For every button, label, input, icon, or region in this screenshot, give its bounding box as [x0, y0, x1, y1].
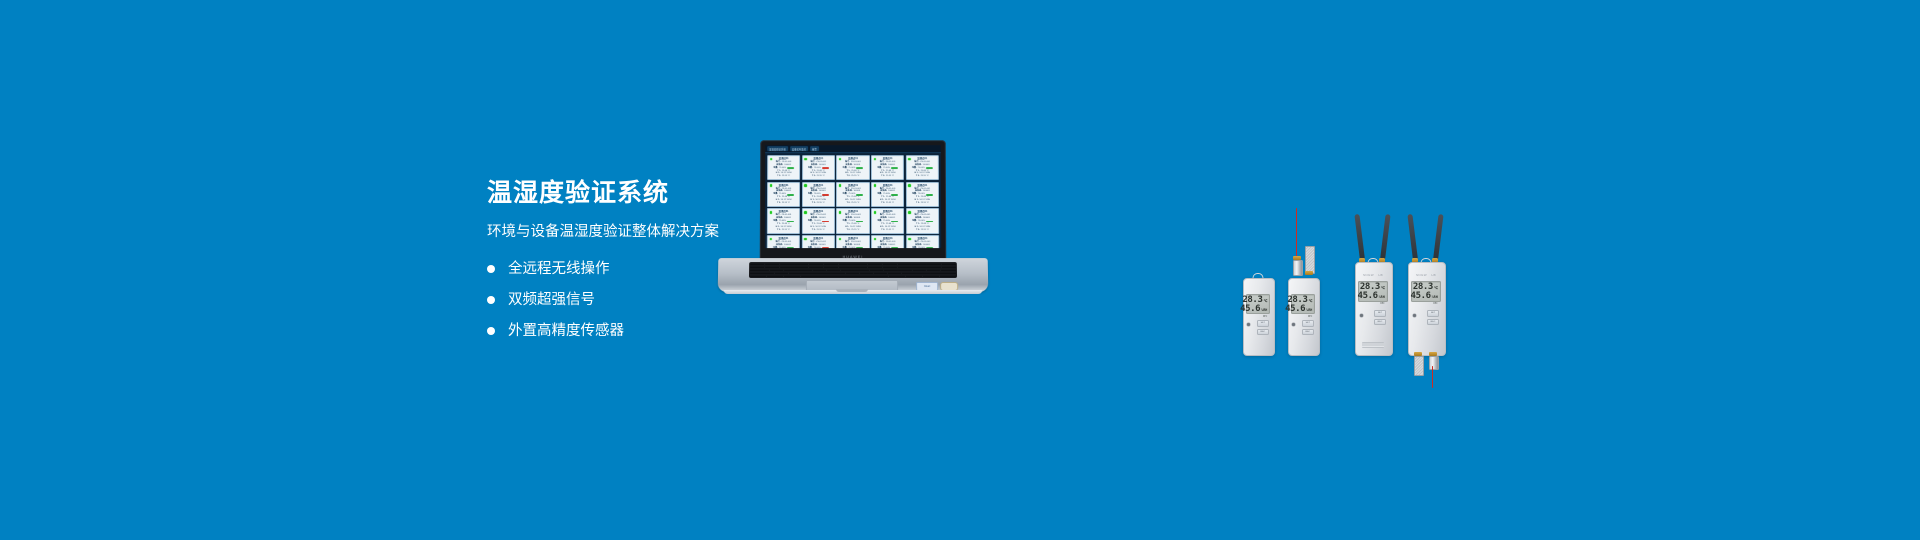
row-value: 25.55 ℃: [886, 229, 894, 232]
sensor-card-title: 监测点01: [908, 237, 936, 240]
rec-button[interactable]: REC: [1257, 329, 1269, 336]
keyboard-key[interactable]: [941, 269, 956, 271]
humidity-reading: 45.6 %RH: [1414, 292, 1438, 301]
laptop-open-notch: [836, 289, 868, 292]
row-label: T 2:: [847, 229, 851, 232]
sensor-card-row: T 2:25.55 ℃: [769, 202, 797, 205]
sensor-card-title: 监测点01: [769, 210, 797, 213]
row-value: 25.55 ℃: [817, 229, 825, 232]
keyboard-key[interactable]: [942, 263, 956, 265]
sensor-card-row: T 2:25.55 ℃: [804, 175, 832, 178]
status-led-icon: [908, 158, 911, 161]
sensor-card-title: 监测点01: [804, 210, 832, 213]
laptop-product-image: 温湿度验证系统 设备实时监控 报警 监测点01编号:ZS-01-001采集器:1…: [718, 140, 988, 300]
keyboard-key[interactable]: [898, 266, 912, 268]
row-label: T 2:: [916, 229, 920, 232]
keyboard-key[interactable]: [809, 266, 823, 268]
row-label: T 2:: [812, 175, 816, 178]
antenna-right: [1380, 214, 1390, 260]
keyboard-key[interactable]: [860, 272, 873, 274]
monitoring-app: 温湿度验证系统 设备实时监控 报警 监测点01编号:ZS-01-001采集器:1…: [765, 145, 941, 248]
keyboard-key[interactable]: [902, 272, 915, 274]
sensor-card-title: 监测点01: [874, 184, 902, 187]
set-button[interactable]: SET: [1427, 310, 1439, 317]
temperature-probe: [1293, 260, 1303, 276]
keyboard-key[interactable]: [750, 275, 766, 277]
sensor-card-title: 监测点01: [874, 210, 902, 213]
record-indicator: REC: [1294, 315, 1313, 318]
row-value: 25.55 ℃: [782, 202, 790, 205]
laptop-lid: 温湿度验证系统 设备实时监控 报警 监测点01编号:ZS-01-001采集器:1…: [760, 140, 947, 260]
keyboard-key[interactable]: [889, 275, 905, 277]
sensor-card[interactable]: 监测点01编号:ZS-01-001采集器:100001电量:75.00%T 1:…: [906, 155, 939, 180]
tab-monitor[interactable]: 设备实时监控: [790, 146, 808, 151]
keyboard-key[interactable]: [853, 263, 867, 265]
bullet-dot-icon: [487, 296, 495, 304]
humidity-value: 45.6: [1285, 305, 1305, 314]
humidity-reading: 45.6 %RH: [1249, 305, 1268, 314]
sensor-card-title: 监测点01: [804, 157, 832, 160]
rec-button[interactable]: REC: [1302, 329, 1314, 336]
keyboard-row: [750, 272, 956, 274]
sensor-card[interactable]: 监测点01编号:ZS-01-001采集器:100001电量:75.00%T 1:…: [802, 155, 835, 180]
row-label: T 2:: [777, 202, 781, 205]
keyboard-key[interactable]: [750, 272, 774, 274]
keyboard-key[interactable]: [906, 275, 922, 277]
battery-level-bar: [891, 247, 898, 248]
keyboard-key[interactable]: [868, 263, 882, 265]
device-lcd-display: 28.3 ℃ 45.6 %RH REC: [1291, 294, 1316, 314]
sensor-card-row: 电量:75.00%: [908, 247, 936, 248]
keyboard-key[interactable]: [794, 263, 808, 265]
keyboard-key[interactable]: [784, 269, 798, 271]
keyboard-key[interactable]: [765, 263, 779, 265]
temperature-unit: ℃: [1381, 287, 1385, 290]
keyboard-row: [750, 263, 956, 265]
sensor-card[interactable]: 监测点01编号:ZS-01-001采集器:100001电量:75.00%T 1:…: [836, 235, 869, 248]
sensor-card-title: 监测点01: [839, 237, 867, 240]
sensor-card[interactable]: 监测点01编号:ZS-01-001采集器:100001电量:75.00%T 1:…: [906, 208, 939, 233]
row-label: T 2:: [777, 175, 781, 178]
record-indicator: REC: [1361, 302, 1385, 305]
sensor-card-row: T 2:25.55 ℃: [769, 229, 797, 232]
keyboard-key[interactable]: [853, 266, 867, 268]
temperature-unit: ℃: [1308, 300, 1312, 303]
row-label: T 2:: [812, 229, 816, 232]
row-label: T 2:: [847, 175, 851, 178]
status-led-icon: [769, 211, 772, 214]
antenna-right: [1433, 214, 1443, 260]
row-value: 75.00%: [848, 247, 855, 248]
humidity-reading: 45.6 %RH: [1294, 305, 1313, 314]
row-label: T 2:: [881, 202, 885, 205]
sensor-card[interactable]: 监测点01编号:ZS-01-001采集器:100001电量:75.00%T 1:…: [836, 155, 869, 180]
keyboard-key[interactable]: [927, 269, 941, 271]
keyboard-key[interactable]: [803, 272, 816, 274]
probe-wire-red: [1296, 208, 1297, 260]
sensor-card-row: T 2:25.55 ℃: [908, 202, 936, 205]
device-brand-left: SNGW: [1363, 273, 1374, 277]
temperature-unit: ℃: [1434, 287, 1438, 290]
keyboard-key[interactable]: [942, 266, 956, 268]
laptop-base: Intel: [718, 258, 989, 292]
tab-system[interactable]: 温湿度验证系统: [767, 146, 788, 151]
humidity-reading: 45.6 %RH: [1361, 292, 1385, 301]
status-led-icon: [874, 211, 877, 214]
sensor-card[interactable]: 监测点01编号:ZS-01-001采集器:100001电量:75.00%T 1:…: [871, 182, 904, 207]
keyboard-key[interactable]: [923, 275, 939, 277]
status-led-icon: [874, 184, 877, 187]
sensor-card-title: 监测点01: [839, 157, 867, 160]
sensor-card-title: 监测点01: [874, 237, 902, 240]
row-label: 电量:: [843, 247, 848, 248]
antenna-left: [1407, 214, 1417, 260]
keyboard-key[interactable]: [912, 269, 926, 271]
sensor-card-row: T 2:25.55 ℃: [908, 175, 936, 178]
device-wireless-dual-band-probe: SNGW H8 28.3 ℃ 45.6 %RH REC SET REC: [1408, 262, 1444, 354]
keyboard-key[interactable]: [765, 266, 779, 268]
tab-label: 报警: [812, 147, 817, 151]
keyboard-key[interactable]: [883, 263, 897, 265]
keyboard-row: [750, 266, 956, 268]
row-label: T 2:: [881, 175, 885, 178]
row-label: T 2:: [847, 202, 851, 205]
set-button[interactable]: SET: [1302, 320, 1314, 327]
battery-level-bar: [787, 247, 794, 248]
row-value: 25.55 ℃: [886, 175, 894, 178]
sensor-card-row: T 2:25.55 ℃: [770, 175, 798, 178]
row-label: 电量:: [808, 247, 813, 248]
row-label: 电量:: [877, 247, 882, 248]
keyboard-key[interactable]: [839, 266, 853, 268]
device-wireless-dual-band: SNGW H8 28.3 ℃ 45.6 %RH REC SET REC: [1355, 262, 1391, 354]
row-label: T 2:: [812, 202, 816, 205]
sensor-card-row: 电量:75.00%: [839, 247, 867, 248]
row-label: T 2:: [916, 175, 920, 178]
keyboard-key[interactable]: [927, 263, 941, 265]
row-value: 25.55 ℃: [782, 175, 790, 178]
keyboard-key[interactable]: [898, 263, 912, 265]
set-button[interactable]: SET: [1374, 310, 1386, 317]
humidity-probe-filter: [1305, 246, 1315, 274]
row-value: 25.55 ℃: [817, 202, 825, 205]
feature-label: 全远程无线操作: [508, 260, 610, 278]
temperature-unit: ℃: [1263, 300, 1267, 303]
row-value: 25.55 ℃: [851, 202, 859, 205]
device-model-right: H8: [1378, 273, 1383, 277]
device-brand-label: [1288, 286, 1318, 290]
device-model-right: H8: [1431, 273, 1436, 277]
row-value: 75.00%: [918, 247, 925, 248]
sensor-card[interactable]: 监测点01编号:ZS-01-001采集器:100001电量:75.00%T 1:…: [767, 235, 800, 248]
keyboard-key[interactable]: [789, 272, 802, 274]
keyboard-key[interactable]: [940, 275, 956, 277]
sensor-card-row: T 2:25.55 ℃: [908, 229, 936, 232]
laptop-keyboard[interactable]: [749, 262, 957, 278]
keyboard-key[interactable]: [841, 269, 855, 271]
keyboard-key[interactable]: [801, 275, 888, 277]
keyboard-key[interactable]: [846, 272, 859, 274]
sensor-card-row: T 2:25.55 ℃: [874, 202, 902, 205]
laptop-screen: 温湿度验证系统 设备实时监控 报警 监测点01编号:ZS-01-001采集器:1…: [765, 145, 941, 248]
keyboard-key[interactable]: [798, 269, 812, 271]
battery-level-bar: [856, 247, 863, 248]
keyboard-key[interactable]: [898, 269, 912, 271]
device-button-group: SET REC: [1374, 310, 1386, 325]
sensor-card[interactable]: 监测点01编号:ZS-01-001采集器:100001电量:75.00%T 1:…: [767, 155, 800, 180]
sensor-card-grid: 监测点01编号:ZS-01-001采集器:100001电量:75.00%T 1:…: [767, 155, 940, 248]
sensor-card[interactable]: 监测点01编号:ZS-01-001采集器:100001电量:75.00%T 1:…: [767, 208, 800, 233]
device-datalogger-external-probe: 28.3 ℃ 45.6 %RH REC SET REC: [1288, 278, 1318, 354]
temperature-probe: [1429, 356, 1439, 370]
sensor-card[interactable]: 监测点01编号:ZS-01-001采集器:100001电量:75.00%T 1:…: [767, 182, 800, 207]
sensor-card-row: 电量:75.00%: [874, 247, 902, 248]
row-label: T 2:: [916, 202, 920, 205]
feature-label: 外置高精度传感器: [508, 322, 624, 340]
row-value: 25.55 ℃: [817, 175, 825, 178]
row-label: 电量:: [773, 247, 778, 248]
keyboard-key[interactable]: [827, 269, 841, 271]
device-lcd-display: 28.3 ℃ 45.6 %RH REC: [1246, 294, 1271, 314]
app-body: 监测点01编号:ZS-01-001采集器:100001电量:75.00%T 1:…: [765, 153, 941, 248]
keyboard-key[interactable]: [916, 272, 929, 274]
sensor-card-row: 电量:75.00%: [769, 247, 797, 248]
sensor-card-title: 监测点01: [839, 210, 867, 213]
humidity-unit: %RH: [1379, 296, 1385, 299]
keyboard-key[interactable]: [767, 275, 783, 277]
keyboard-key[interactable]: [813, 269, 827, 271]
status-led-icon: [804, 158, 807, 161]
row-value: 75.00%: [883, 247, 890, 248]
row-value: 25.55 ℃: [921, 202, 929, 205]
sensor-card-title: 监测点01: [770, 157, 798, 160]
keyboard-key[interactable]: [824, 266, 838, 268]
app-titlebar: 温湿度验证系统 设备实时监控 报警: [765, 145, 941, 153]
sensor-card-row: T 2:25.55 ℃: [804, 229, 832, 232]
humidity-value: 45.6: [1411, 292, 1431, 301]
row-value: 75.00%: [779, 247, 786, 248]
keyboard-key[interactable]: [930, 272, 956, 274]
sensor-card[interactable]: 监测点01编号:ZS-01-001采集器:100001电量:75.00%T 1:…: [871, 235, 904, 248]
device-brand-row: SNGW H8: [1355, 273, 1391, 277]
antenna-left: [1354, 214, 1364, 260]
keyboard-key[interactable]: [750, 263, 764, 265]
humidity-value: 45.6: [1358, 292, 1378, 301]
keyboard-key[interactable]: [855, 269, 869, 271]
sensor-card[interactable]: 监测点01编号:ZS-01-001采集器:100001电量:75.00%T 1:…: [836, 182, 869, 207]
sensor-card-row: T 2:25.55 ℃: [874, 229, 902, 232]
battery-level-bar: [822, 247, 829, 248]
row-value: 25.55 ℃: [782, 229, 790, 232]
status-led-icon: [908, 184, 911, 187]
row-value: 75.00%: [814, 247, 821, 248]
row-value: 25.55 ℃: [886, 202, 894, 205]
sensor-card-title: 监测点01: [908, 210, 936, 213]
keyboard-key[interactable]: [912, 266, 926, 268]
probe-connector-cap: [1305, 271, 1313, 275]
keyboard-key[interactable]: [874, 272, 887, 274]
device-brand-label: [1243, 286, 1273, 290]
sensor-card[interactable]: 监测点01编号:ZS-01-001采集器:100001电量:75.00%T 1:…: [802, 235, 835, 248]
sensor-card-title: 监测点01: [839, 184, 867, 187]
humidity-unit: %RH: [1261, 309, 1267, 312]
keyboard-row: [750, 275, 956, 277]
keyboard-key[interactable]: [780, 266, 794, 268]
humidity-probe-filter: [1414, 356, 1424, 376]
bullet-dot-icon: [487, 265, 495, 273]
tab-alarm[interactable]: 报警: [810, 146, 819, 151]
humidity-unit: %RH: [1432, 296, 1438, 299]
sensor-card-row: T 2:25.55 ℃: [839, 229, 867, 232]
sensor-card[interactable]: 监测点01编号:ZS-01-001采集器:100001电量:75.00%T 1:…: [906, 235, 939, 248]
status-led-icon: [770, 184, 773, 187]
keyboard-key[interactable]: [839, 263, 853, 265]
keyboard-key[interactable]: [775, 272, 788, 274]
sensor-card-row: T 2:25.55 ℃: [839, 175, 867, 178]
sensor-card-row: T 2:25.55 ℃: [874, 175, 902, 178]
device-datalogger-basic: 28.3 ℃ 45.6 %RH REC SET REC: [1243, 278, 1273, 354]
keyboard-key[interactable]: [770, 269, 784, 271]
sensor-card-title: 监测点01: [908, 157, 936, 160]
keyboard-key[interactable]: [750, 266, 764, 268]
feature-label: 双频超强信号: [508, 291, 595, 309]
status-led-icon: [908, 211, 911, 214]
vent-grille: [1362, 342, 1384, 348]
device-lcd-display: 28.3 ℃ 45.6 %RH REC: [1411, 281, 1441, 302]
sensor-card[interactable]: 监测点01编号:ZS-01-001采集器:100001电量:75.00%T 1:…: [871, 155, 904, 180]
device-button-group: SET REC: [1427, 310, 1439, 325]
keyboard-key[interactable]: [817, 272, 830, 274]
keyboard-key[interactable]: [794, 266, 808, 268]
device-brand-row: SNGW H8: [1408, 273, 1444, 277]
keyboard-key[interactable]: [870, 269, 884, 271]
sensor-card-title: 监测点01: [804, 237, 832, 240]
sensor-card-row: T 2:25.55 ℃: [804, 202, 832, 205]
device-button-group: SET REC: [1302, 320, 1314, 335]
keyboard-key[interactable]: [831, 272, 844, 274]
tab-label: 温湿度验证系统: [769, 147, 786, 151]
status-led-icon: [804, 211, 807, 214]
row-label: T 2:: [881, 229, 885, 232]
row-label: T 2:: [777, 229, 781, 232]
keyboard-key[interactable]: [824, 263, 838, 265]
tab-label: 设备实时监控: [792, 147, 806, 151]
row-value: 25.55 ℃: [851, 229, 859, 232]
row-value: 25.55 ℃: [921, 175, 929, 178]
set-button[interactable]: SET: [1257, 320, 1269, 327]
sensor-card-row: 电量:75.00%: [804, 247, 832, 248]
keyboard-key[interactable]: [780, 263, 794, 265]
sensor-card-title: 监测点01: [804, 184, 832, 187]
record-indicator: REC: [1249, 315, 1268, 318]
row-value: 25.55 ℃: [921, 229, 929, 232]
humidity-unit: %RH: [1306, 309, 1312, 312]
keyboard-key[interactable]: [883, 266, 897, 268]
sensor-card-title: 监测点01: [874, 157, 902, 160]
device-lcd-display: 28.3 ℃ 45.6 %RH REC: [1358, 281, 1388, 302]
sensor-card[interactable]: 监测点01编号:ZS-01-001采集器:100001电量:75.00%T 1:…: [802, 182, 835, 207]
sensor-card-title: 监测点01: [770, 184, 798, 187]
sticker-label: Intel: [917, 282, 937, 289]
bullet-dot-icon: [487, 327, 495, 335]
device-button-group: SET REC: [1257, 320, 1269, 335]
sensor-card-title: 监测点01: [769, 237, 797, 240]
hero-banner: 温湿度验证系统 环境与设备温湿度验证整体解决方案 全远程无线操作 双频超强信号 …: [0, 0, 1920, 540]
humidity-value: 45.6: [1240, 305, 1260, 314]
keyboard-key[interactable]: [927, 266, 941, 268]
keyboard-row: [750, 269, 956, 271]
sensor-card-title: 监测点01: [908, 184, 936, 187]
rec-button[interactable]: REC: [1374, 319, 1386, 326]
keyboard-key[interactable]: [809, 263, 823, 265]
rec-button[interactable]: REC: [1427, 319, 1439, 326]
list-item: 外置高精度传感器: [487, 322, 817, 340]
row-value: 25.55 ℃: [851, 175, 859, 178]
battery-level-bar: [926, 247, 933, 248]
keyboard-key[interactable]: [912, 263, 926, 265]
sensor-card[interactable]: 监测点01编号:ZS-01-001采集器:100001电量:75.00%T 1:…: [836, 208, 869, 233]
sensor-card[interactable]: 监测点01编号:ZS-01-001采集器:100001电量:75.00%T 1:…: [802, 208, 835, 233]
sensor-card-row: T 2:25.55 ℃: [839, 202, 867, 205]
keyboard-key[interactable]: [884, 269, 898, 271]
device-brand-left: SNGW: [1416, 273, 1427, 277]
keyboard-key[interactable]: [888, 272, 901, 274]
status-led-icon: [770, 158, 773, 161]
keyboard-key[interactable]: [750, 269, 769, 271]
status-led-icon: [804, 184, 807, 187]
keyboard-key[interactable]: [784, 275, 800, 277]
record-indicator: REC: [1414, 302, 1438, 305]
sensor-card[interactable]: 监测点01编号:ZS-01-001采集器:100001电量:75.00%T 1:…: [906, 182, 939, 207]
sensor-card[interactable]: 监测点01编号:ZS-01-001采集器:100001电量:75.00%T 1:…: [871, 208, 904, 233]
keyboard-key[interactable]: [868, 266, 882, 268]
row-label: 电量:: [912, 247, 917, 248]
